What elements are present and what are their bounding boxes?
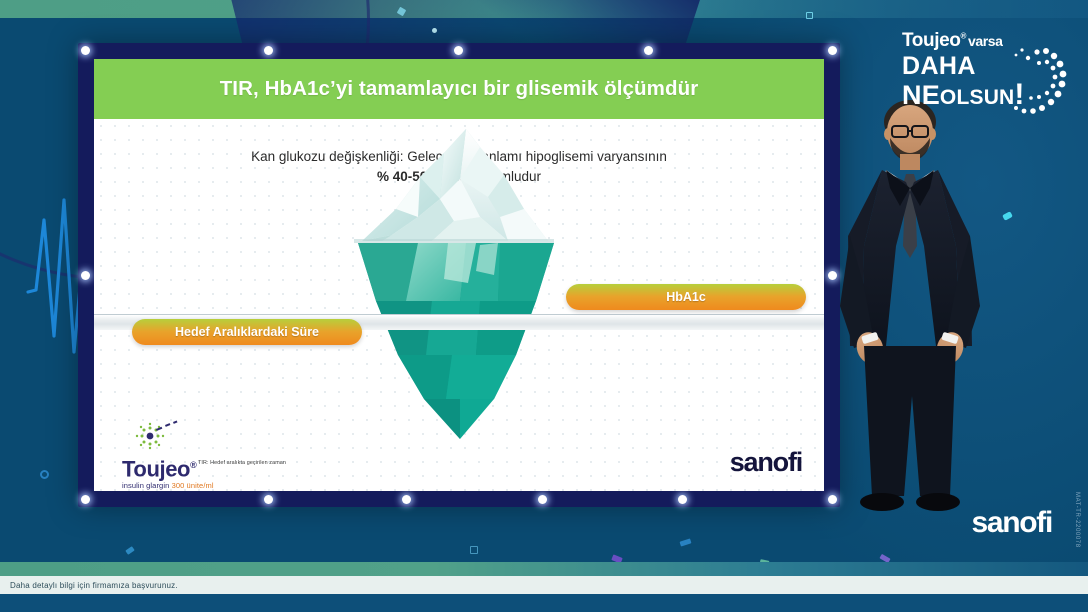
slide-footnote: TIR: Hedef aralıkta geçirilen zaman [198,460,286,466]
brand-line-2: DAHA [902,52,976,81]
brand-dot-swirl-icon [992,38,1072,134]
label-hba1c-text: HbA1c [666,290,706,304]
frame-dot [454,46,463,55]
sanofi-logo-slide: sanofi [730,447,802,478]
frame-dot [538,495,547,504]
brand-registered-mark: ® [960,32,966,41]
sanofi-logo-bottom-right: sanofi [971,506,1052,540]
confetti-shape [806,12,813,19]
label-time-in-range: Hedef Aralıklardaki Süre [132,319,362,345]
toujeo-logo: Toujeo® insulin glargin 300 ünite/ml [122,419,252,490]
slide-title-bar: TIR, HbA1c’yi tamamlayıcı bir glisemik ö… [94,59,824,119]
slide-body: Kan glukozu değişkenliği: Gelecekteki an… [94,119,824,491]
frame-dot [81,495,90,504]
toujeo-tagline: insulin glargin 300 ünite/ml [122,481,252,490]
frame-dot [264,495,273,504]
slide-content: TIR, HbA1c’yi tamamlayıcı bir glisemik ö… [94,59,824,491]
frame-dot [81,271,90,280]
toujeo-wordmark-text: Toujeo [122,456,190,481]
confetti-shape [432,28,437,33]
frame-dot [678,495,687,504]
iceberg-illustration [348,113,578,443]
label-time-in-range-text: Hedef Aralıklardaki Süre [175,325,319,339]
screenshot-root: TIR, HbA1c’yi tamamlayıcı bir glisemik ö… [0,0,1088,612]
frame-dot [81,46,90,55]
frame-dot [828,46,837,55]
toujeo-tagline-accent: 300 ünite/ml [172,481,214,490]
presenter-photo [820,96,1000,566]
confetti-shape [470,546,478,554]
frame-dot [402,495,411,504]
mat-code: MAT-TR-2200078 [1074,492,1080,548]
bottom-navy-bar [0,594,1088,612]
bottom-disclaimer-bar: Daha detaylı bilgi için firmamıza başvur… [0,576,1088,594]
bottom-teal-strip [0,562,1088,576]
campaign-branding: Toujeo®varsa DAHA NEOLSUN! [892,26,1070,130]
frame-dot [264,46,273,55]
brand-line-1: Toujeo®varsa [902,30,1003,52]
brand-ne-word: NE [902,80,940,110]
toujeo-registered-mark: ® [190,460,196,470]
label-hba1c: HbA1c [566,284,806,310]
brand-toujeo-word: Toujeo [902,30,960,51]
toujeo-wordmark: Toujeo® [122,454,252,480]
confetti-shape [40,470,49,479]
frame-dot [644,46,653,55]
toujeo-burst-icon [130,419,184,453]
toujeo-tagline-main: insulin glargin [122,481,169,490]
disclaimer-text: Daha detaylı bilgi için firmamıza başvur… [10,581,178,590]
page-title: TIR, HbA1c’yi tamamlayıcı bir glisemik ö… [220,77,699,101]
